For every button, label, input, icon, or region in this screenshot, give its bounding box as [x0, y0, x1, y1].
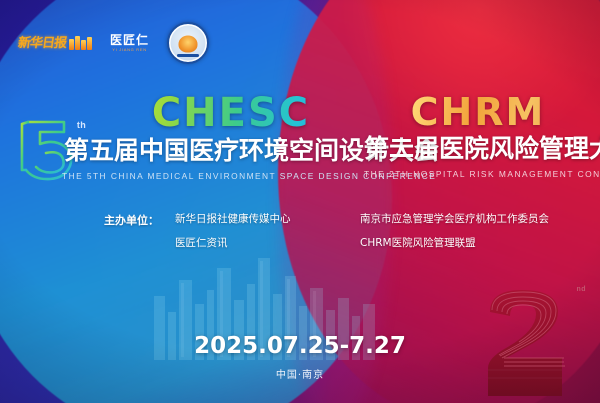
organizers-label: 主办单位： — [104, 211, 159, 228]
organizers-block: 主办单位： 新华日报社健康传媒中心 医匠仁资讯 南京市应急管理学会医疗机构工作委… — [104, 211, 549, 250]
emblem-center-icon — [179, 35, 198, 52]
chrm-acronym: CHRM — [364, 93, 592, 131]
organizers-column-1: 新华日报社健康传媒中心 医匠仁资讯 — [175, 211, 360, 250]
association-emblem-logo — [167, 22, 209, 64]
left-conference-title-block: CHESC 第五届中国医疗环境空间设计大会 THE 5TH CHINA MEDI… — [62, 93, 358, 181]
right-conference-title-block: CHRM 第二届医院风险管理大会 THE 2TH HOSPITAL RISK M… — [364, 93, 592, 179]
organizer-item: 新华日报社健康传媒中心 — [175, 211, 360, 226]
xinhua-daily-logo-text: 新华日报 — [17, 37, 67, 50]
yijiangren-logo-cn: 医匠仁 — [110, 34, 149, 46]
yijiangren-logo-en: YI JIANG REN — [110, 48, 149, 52]
chesc-title-en: THE 5TH CHINA MEDICAL ENVIRONMENT SPACE … — [62, 171, 358, 181]
organizer-item: 医匠仁资讯 — [175, 235, 360, 250]
edition-2nd-ribbon: nd — [466, 278, 600, 403]
conference-poster: 新华日报 医匠仁 YI JIANG REN — [0, 0, 600, 403]
logo-row: 新华日报 医匠仁 YI JIANG REN — [18, 22, 209, 64]
organizer-item: CHRM医院风险管理联盟 — [360, 235, 549, 250]
chesc-acronym: CHESC — [104, 93, 358, 133]
numeral-2-ribbon-icon — [466, 278, 600, 403]
organizer-item: 南京市应急管理学会医疗机构工作委员会 — [360, 211, 549, 226]
chesc-title-cn: 第五届中国医疗环境空间设计大会 — [64, 137, 358, 165]
emblem-base-bar — [177, 54, 199, 57]
xinhua-daily-logo: 新华日报 — [18, 34, 92, 52]
xinhua-logo-bars-icon — [69, 36, 92, 50]
chrm-title-en: THE 2TH HOSPITAL RISK MANAGEMENT CONFERE… — [364, 169, 592, 179]
organizers-column-2: 南京市应急管理学会医疗机构工作委员会 CHRM医院风险管理联盟 — [360, 211, 549, 250]
yijiangren-logo: 医匠仁 YI JIANG REN — [110, 34, 149, 52]
chrm-title-cn: 第二届医院风险管理大会 — [364, 135, 592, 163]
edition-2nd-suffix: nd — [576, 286, 586, 293]
